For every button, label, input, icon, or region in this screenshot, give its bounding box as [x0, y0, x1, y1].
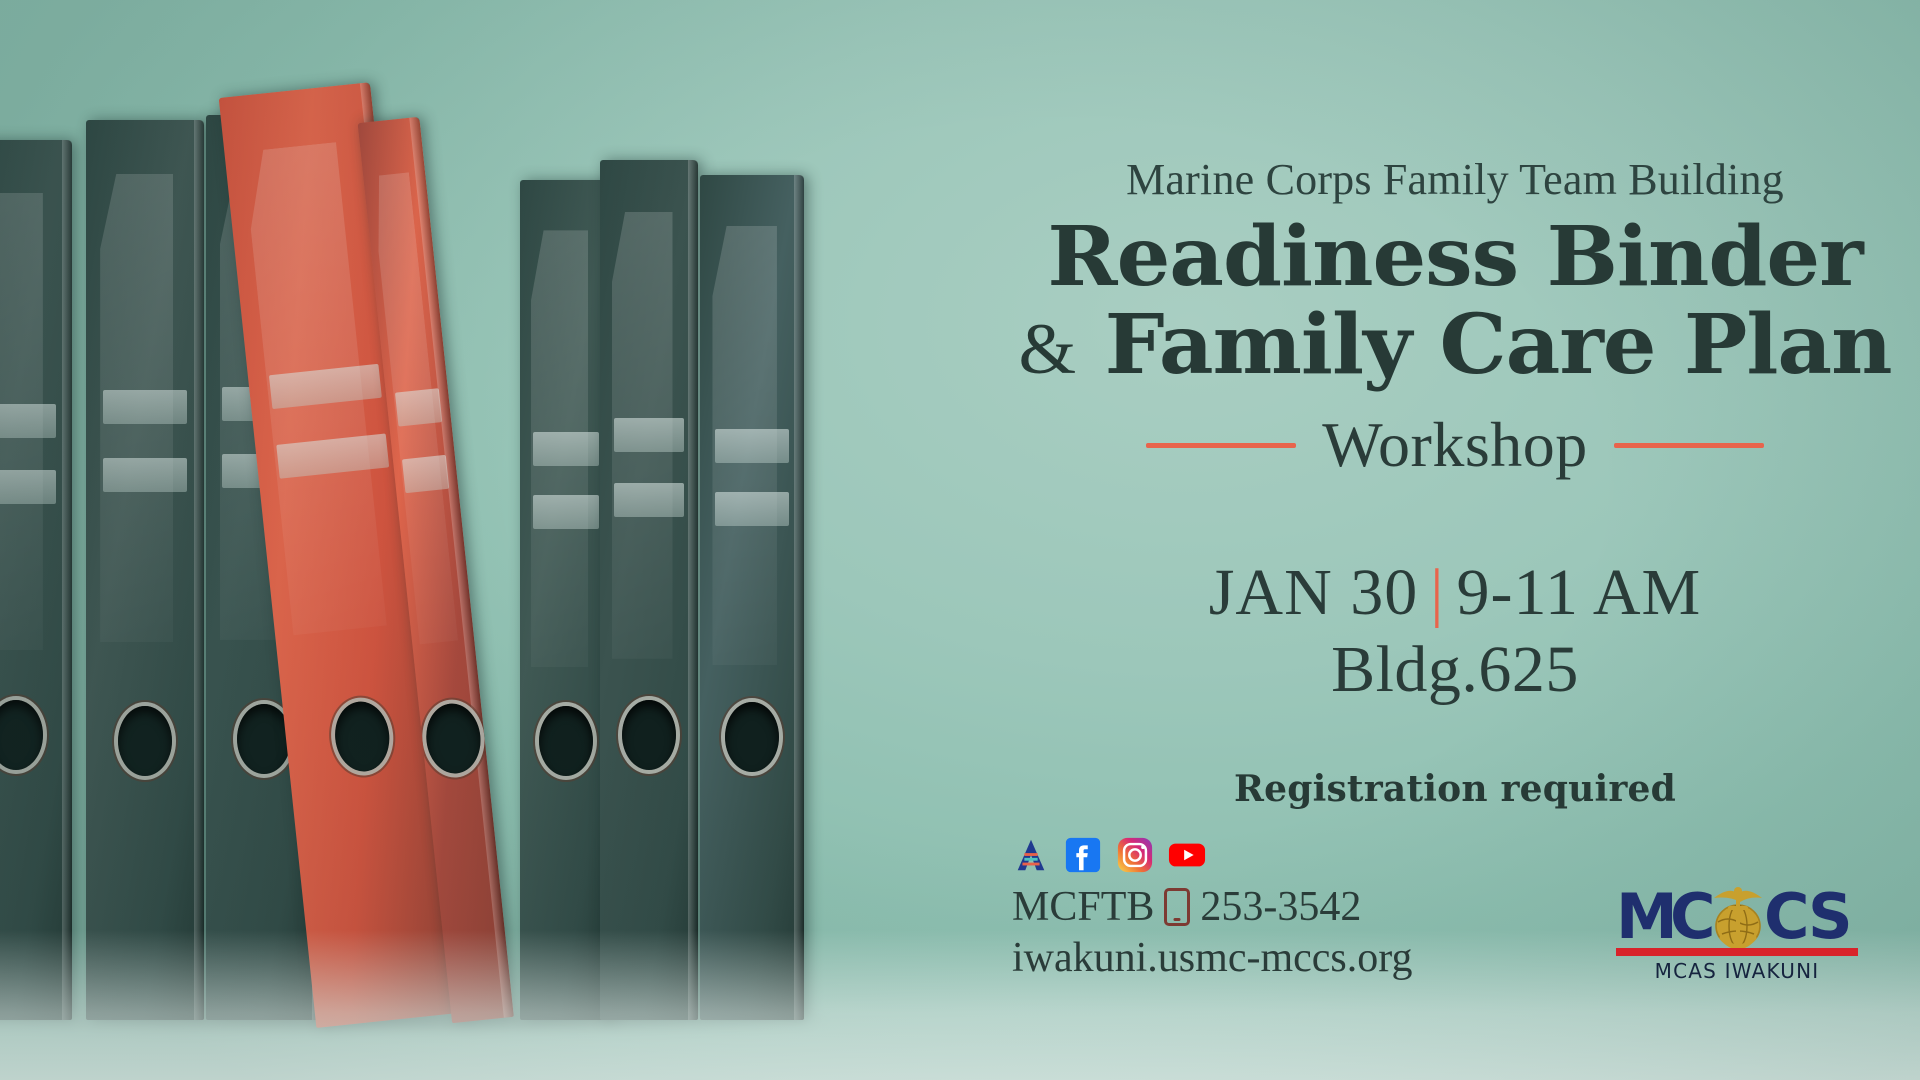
binder-slate-2 [86, 120, 204, 1020]
title-line-2-wrap: & Family Care Plan [997, 304, 1914, 388]
binder-face [600, 160, 698, 1020]
app-icon[interactable] [1012, 836, 1050, 874]
binder-edge [62, 140, 72, 1020]
binder-finger-hole [539, 706, 593, 776]
binder-finger-hole [725, 702, 779, 772]
binder-finger-hole [622, 700, 676, 770]
binder-label-window-1 [395, 388, 443, 426]
binder-label-window-2 [533, 495, 599, 529]
binder-label-window-2 [715, 492, 790, 526]
program-label: MCFTB [1012, 882, 1154, 933]
binder-face [700, 175, 804, 1020]
binder-label-window-2 [614, 483, 685, 517]
binder-label-window-2 [402, 455, 450, 493]
binder-face [0, 140, 72, 1020]
svg-text:S: S [1808, 880, 1850, 953]
subtitle-row: Workshop [1010, 413, 1900, 477]
binder-finger-hole [118, 706, 172, 776]
event-location: Bldg.625 [1010, 634, 1900, 707]
installation-name: MCAS IWAKUNI [1655, 959, 1820, 983]
binder-finger-hole [0, 700, 43, 770]
svg-text:C: C [1764, 880, 1807, 953]
binder-label-window-1 [533, 432, 599, 466]
binder-finger-hole [332, 699, 393, 774]
event-time: 9-11 AM [1456, 556, 1701, 629]
social-icon-row [1012, 836, 1572, 874]
ampersand: & [1018, 309, 1076, 389]
rule-left [1146, 443, 1296, 448]
phone-number: 253-3542 [1200, 882, 1361, 933]
poster-canvas: Marine Corps Family Team Building Readin… [0, 0, 1920, 1080]
instagram-icon[interactable] [1116, 836, 1154, 874]
website-url[interactable]: iwakuni.usmc-mccs.org [1012, 933, 1572, 984]
svg-text:M: M [1616, 880, 1675, 953]
youtube-icon[interactable] [1168, 836, 1206, 874]
registration-note: Registration required [1010, 768, 1900, 810]
svg-text:C: C [1670, 880, 1713, 953]
datetime-divider: | [1418, 556, 1456, 629]
title-line-2: Family Care Plan [1105, 297, 1892, 393]
subtitle: Workshop [1322, 413, 1588, 477]
binder-face [520, 180, 612, 1020]
organization-name: Marine Corps Family Team Building [1010, 158, 1900, 202]
contact-line: MCFTB 253-3542 [1012, 882, 1572, 933]
binders-photo [0, 0, 830, 1080]
mccs-logo: M C C S MCAS [1612, 876, 1862, 984]
page-title: Readiness Binder & Family Care Plan [997, 216, 1914, 387]
binder-label-window-1 [614, 418, 685, 452]
binder-slate-5 [600, 160, 698, 1020]
facebook-icon[interactable] [1064, 836, 1102, 874]
event-date: JAN 30 [1209, 556, 1419, 629]
contact-footer: MCFTB 253-3542 iwakuni.usmc-mccs.org [1012, 836, 1572, 984]
title-line-1: Readiness Binder [1047, 209, 1862, 305]
binder-edge [194, 120, 204, 1020]
binder-label-window-1 [715, 429, 790, 463]
binder-slate-6 [700, 175, 804, 1020]
binder-slate-4 [520, 180, 612, 1020]
binder-label-window-2 [0, 470, 56, 504]
binder-label-window-1 [0, 404, 56, 438]
rule-right [1614, 443, 1764, 448]
binder-label-window-1 [103, 390, 188, 424]
binder-edge [794, 175, 804, 1020]
mobile-phone-icon [1164, 888, 1190, 926]
binder-face [86, 120, 204, 1020]
binder-label-window-2 [103, 458, 188, 492]
event-datetime: JAN 30|9-11 AM [1010, 555, 1900, 632]
binder-edge [688, 160, 698, 1020]
binder-slate-1 [0, 140, 72, 1020]
